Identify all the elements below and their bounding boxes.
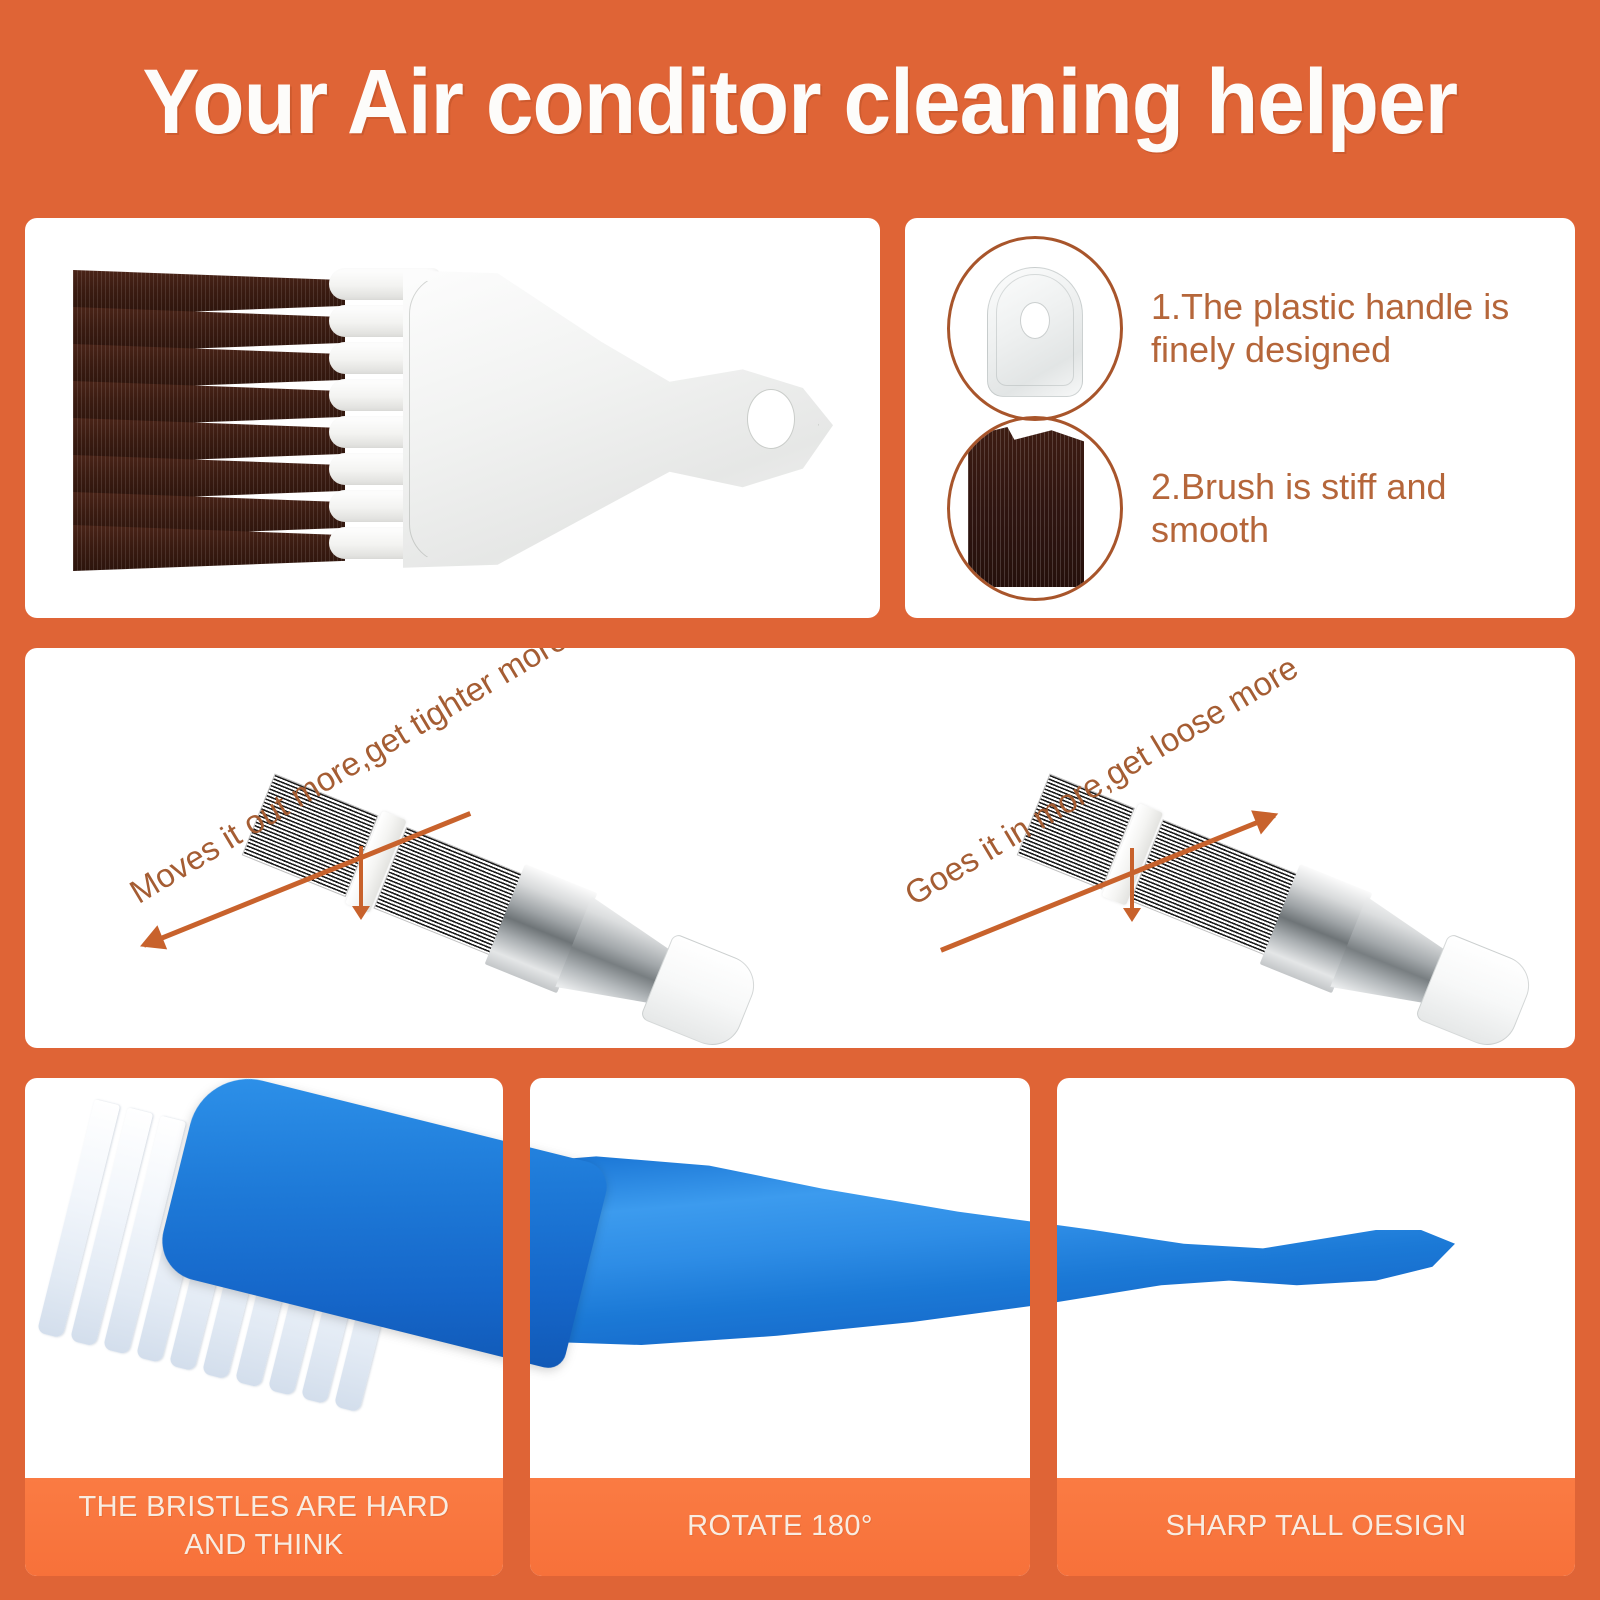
bristle-row — [37, 1099, 120, 1338]
panel-blue-brush-rotate: ROTATE 180° — [530, 1078, 1030, 1576]
hanging-hole-icon — [1020, 302, 1050, 339]
bristle-row — [301, 1165, 384, 1404]
caption-rotate-180: ROTATE 180° — [687, 1508, 873, 1546]
caption-bristles-hard: THE BRISTLES ARE HARD AND THINK — [79, 1489, 450, 1564]
bristle-row — [235, 1149, 318, 1388]
caption-sharp-tall-design: SHARP TALL OESIGN — [1166, 1508, 1467, 1546]
blue-handle — [325, 1138, 503, 1368]
panel-blue-brush-bristles: THE BRISTLES ARE HARD AND THINK — [25, 1078, 503, 1576]
feature-label-1: 1.The plastic handle is finely designed — [1151, 286, 1551, 371]
arrow-head — [135, 925, 167, 958]
bristle-row — [103, 1116, 186, 1355]
panel-features: 1.The plastic handle is finely designed … — [905, 218, 1575, 618]
handle-closeup-oval — [947, 236, 1123, 421]
blue-brush-head — [154, 1078, 503, 1372]
blue-handle-tail — [1057, 1138, 1455, 1368]
blue-handle — [530, 1138, 1030, 1368]
demo-tighter: Moves it out more,get tighter more — [25, 648, 800, 1048]
blue-brush-image — [1057, 1078, 1575, 1478]
plastic-handle-icon — [987, 267, 1083, 397]
pointer-arrow-down — [1130, 848, 1134, 910]
bristle-row — [268, 1157, 351, 1396]
panel-blue-brush-tip: SHARP TALL OESIGN — [1057, 1078, 1575, 1576]
caption-bar: SHARP TALL OESIGN — [1057, 1478, 1575, 1576]
bristle-closeup-oval — [947, 416, 1123, 601]
bristle-row — [334, 1173, 417, 1412]
demo-looser: Goes it in more,get loose more — [800, 648, 1575, 1048]
bristle-row — [70, 1107, 153, 1346]
blue-brush-image — [530, 1078, 1030, 1478]
arrow-head — [1251, 801, 1283, 834]
panel-tension-adjustment: Moves it out more,get tighter more Goes … — [25, 648, 1575, 1048]
bristle-row — [169, 1132, 252, 1371]
bristle-icon — [968, 427, 1084, 587]
blue-brush-image — [25, 1078, 503, 1478]
page-title: Your Air conditor cleaning helper — [143, 50, 1458, 155]
blue-brush-head — [530, 1078, 612, 1372]
caption-bar: ROTATE 180° — [530, 1478, 1030, 1576]
white-bristle-group — [34, 1099, 483, 1438]
bristle-row — [136, 1124, 219, 1363]
pointer-arrow-down — [359, 846, 363, 908]
fin-comb-brush-image — [73, 264, 833, 574]
caption-bar: THE BRISTLES ARE HARD AND THINK — [25, 1478, 503, 1576]
plastic-handle — [403, 264, 833, 574]
feature-item: 1.The plastic handle is finely designed — [947, 236, 1551, 421]
bristle-row — [202, 1140, 285, 1379]
feature-item: 2.Brush is stiff and smooth — [947, 416, 1551, 601]
bristle-tuft — [73, 525, 345, 571]
infographic-page: Your Air conditor cleaning helper — [0, 0, 1600, 1600]
hanging-hole — [747, 389, 795, 449]
header-banner: Your Air conditor cleaning helper — [0, 0, 1600, 205]
bristle-block — [73, 270, 345, 566]
feature-label-2: 2.Brush is stiff and smooth — [1151, 466, 1551, 551]
panel-brush-overview — [25, 218, 880, 618]
